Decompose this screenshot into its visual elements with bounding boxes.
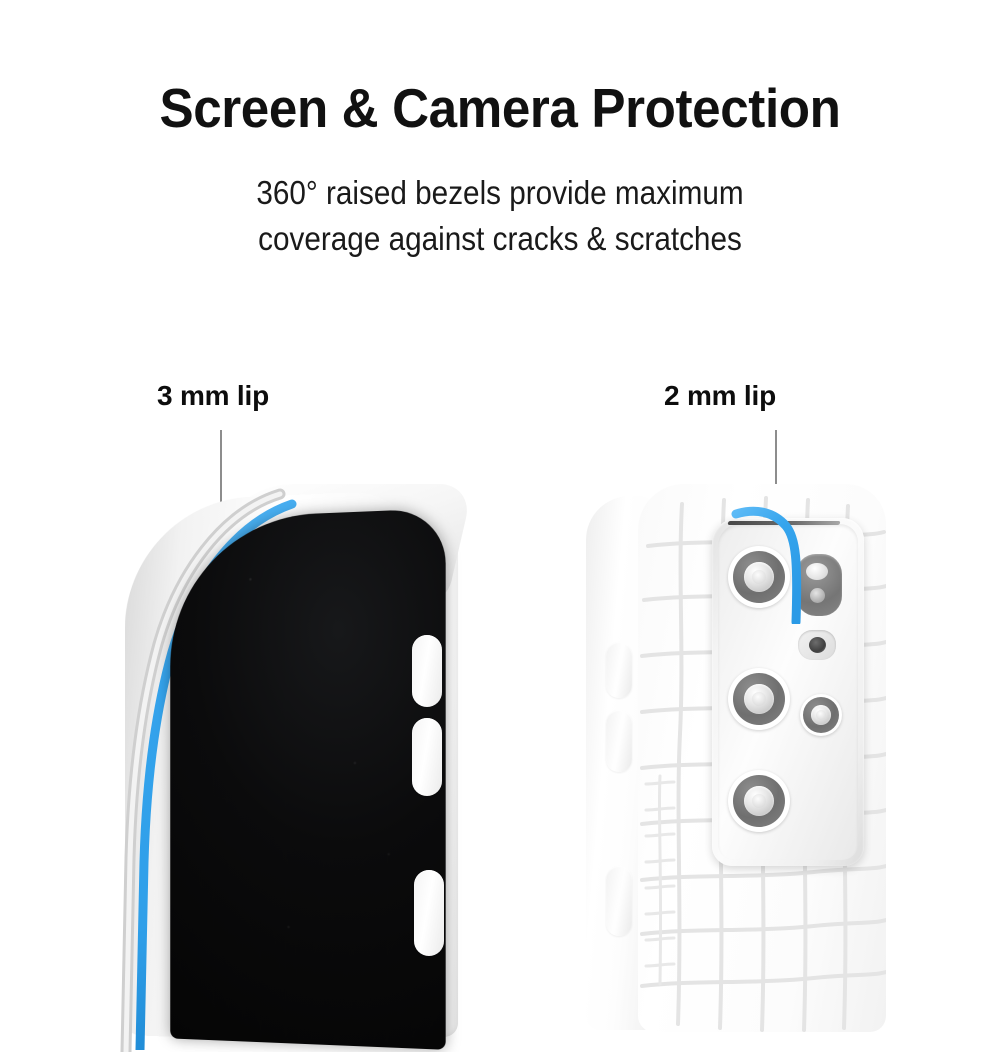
subtitle-line-2: coverage against cracks & scratches [50, 216, 950, 262]
left-phone-power-button[interactable] [414, 870, 444, 956]
camera-flash-module [796, 554, 842, 616]
camera-module-seam [727, 521, 840, 525]
camera-laser-sensor [798, 630, 836, 660]
left-phone-volume-up-button[interactable] [412, 635, 442, 707]
right-phone-case-back [638, 484, 886, 1032]
right-phone-power-button[interactable] [606, 866, 632, 936]
left-phone-volume-down-button[interactable] [412, 718, 442, 796]
right-phone-back-view [580, 470, 910, 1030]
subtitle-line-1: 360° raised bezels provide maximum [50, 170, 950, 216]
left-phone-front-view [90, 470, 510, 1030]
page-title: Screen & Camera Protection [35, 78, 965, 138]
flash-led-icon [806, 563, 828, 580]
camera-lens-small [800, 694, 842, 736]
flash-sensor-icon [810, 588, 825, 603]
right-phone-volume-up-button[interactable] [606, 642, 632, 698]
lens-pupil [752, 692, 766, 706]
lens-pupil [752, 570, 766, 584]
callout-label-left: 3 mm lip [157, 380, 269, 412]
camera-lens-wide [728, 546, 790, 608]
camera-module [712, 518, 864, 866]
camera-lens-telephoto [728, 770, 790, 832]
left-phone-screen [170, 508, 445, 1050]
infographic-canvas: Screen & Camera Protection 360° raised b… [0, 0, 1000, 1000]
camera-lens-ultrawide [728, 668, 790, 730]
lens-pupil [816, 710, 826, 720]
right-phone-volume-down-button[interactable] [606, 710, 632, 772]
page-subtitle: 360° raised bezels provide maximum cover… [50, 170, 950, 262]
lens-pupil [752, 794, 766, 808]
callout-label-right: 2 mm lip [664, 380, 776, 412]
